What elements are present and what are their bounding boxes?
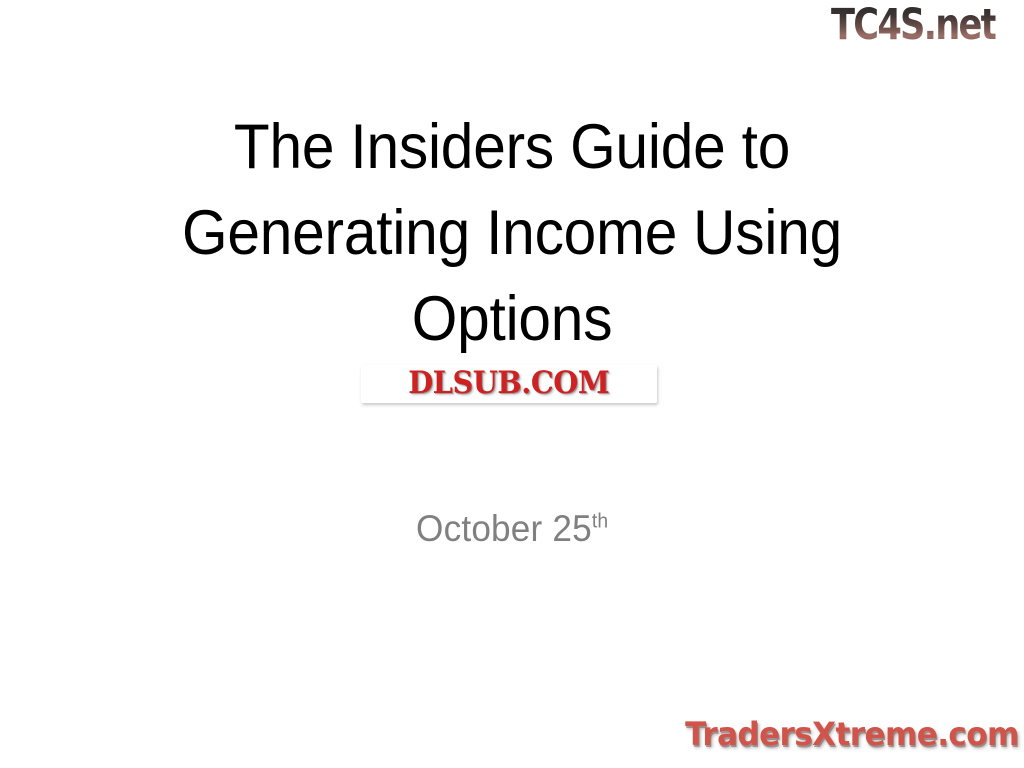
title-line-2: Generating Income Using [94,190,931,276]
title-line-3: Options [94,276,931,362]
tc4s-watermark-logo: TC4S.net [831,1,1021,49]
subtitle-date-main: October 25 [416,508,592,549]
tradersxtreme-logo: TradersXtreme.com [682,712,1022,756]
dlsub-watermark-logo: DLSUB.COM [361,365,657,403]
dlsub-watermark-label: DLSUB.COM [408,369,609,400]
subtitle-date-ordinal: th [592,511,609,533]
subtitle-date: October 25th [416,506,608,552]
title-line-1: The Insiders Guide to [94,104,931,190]
presentation-slide: TC4S.net The Insiders Guide to Generatin… [0,0,1024,768]
tradersxtreme-logo-label: TradersXtreme.com [685,717,1019,751]
slide-title: The Insiders Guide to Generating Income … [62,104,962,362]
tc4s-watermark-label: TC4S.net [831,4,996,46]
slide-subtitle: October 25th [62,506,962,552]
